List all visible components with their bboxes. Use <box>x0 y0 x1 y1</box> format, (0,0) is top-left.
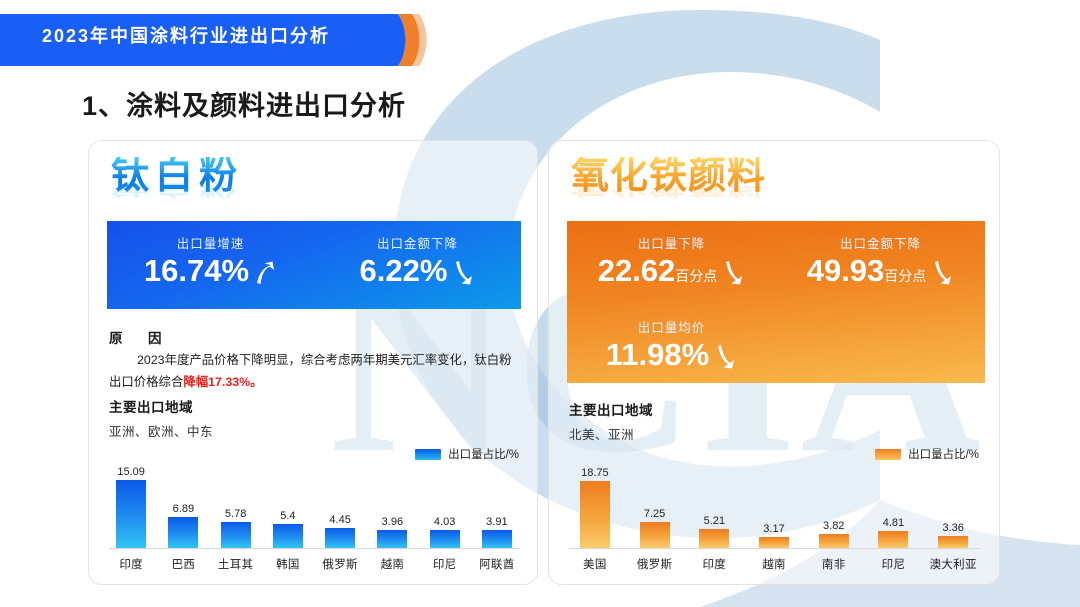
bar-column: 18.75 <box>565 460 625 548</box>
bar-value-label: 4.45 <box>329 514 350 526</box>
reason-body: 2023年度产品价格下降明显，综合考虑两年期美元汇率变化，钛白粉出口价格综合降幅… <box>109 350 519 393</box>
bar-value-label: 3.96 <box>382 516 403 528</box>
metric-label: 出口金额下降 <box>314 233 521 252</box>
x-axis-label: 韩国 <box>262 556 314 572</box>
bar <box>699 529 729 548</box>
region-block-left: 主要出口地域 亚洲、欧洲、中东 <box>109 396 519 440</box>
metric-value: 16.74% <box>144 253 249 288</box>
x-axis-label: 土耳其 <box>210 556 262 572</box>
x-axis-label: 澳大利亚 <box>923 556 983 572</box>
bar-column: 5.21 <box>684 460 744 548</box>
region-title: 主要出口地域 <box>109 396 519 416</box>
bar-value-label: 7.25 <box>644 508 665 520</box>
arrow-down-icon <box>719 259 745 285</box>
metric-value: 6.22% <box>360 253 448 288</box>
region-value: 亚洲、欧洲、中东 <box>109 421 519 440</box>
bar-column: 3.96 <box>366 460 418 548</box>
bar-value-label: 6.89 <box>173 503 194 515</box>
bar-column: 4.45 <box>314 460 366 548</box>
reason-title: 原 因 <box>109 327 519 347</box>
reason-block: 原 因 2023年度产品价格下降明显，综合考虑两年期美元汇率变化，钛白粉出口价格… <box>109 327 519 393</box>
legend-swatch-icon <box>415 449 441 460</box>
metric-label: 出口量增速 <box>107 233 314 252</box>
metric-export-value-decline: 出口金额下降 49.93百分点 <box>776 221 985 288</box>
arrow-down-icon <box>711 343 737 369</box>
x-axis-label: 美国 <box>565 556 625 572</box>
metric-export-volume-growth: 出口量增速 16.74% <box>107 221 314 288</box>
bars-container-left: 15.096.895.785.44.453.964.033.91 <box>105 460 523 548</box>
card-title-titanium-dioxide: 钛白粉 <box>111 157 243 197</box>
bar-value-label: 15.09 <box>117 466 145 478</box>
slide-page: NCIA 2023年中国涂料行业进出口分析 1、涂料及颜料进出口分析 钛白粉 钛… <box>0 0 1080 607</box>
chart-axis-line <box>569 548 979 549</box>
metric-value-group: 22.62百分点 <box>567 254 776 288</box>
chart-titanium-dioxide: 出口量占比/% 15.096.895.785.44.453.964.033.91… <box>105 446 523 574</box>
card-title-iron-oxide: 氧化铁颜料 <box>571 157 766 197</box>
chart-iron-oxide: 出口量占比/% 18.757.255.213.173.824.813.36 美国… <box>565 446 983 574</box>
x-axis-label: 印尼 <box>419 556 471 572</box>
bar-column: 7.25 <box>625 460 685 548</box>
x-axis-label: 印尼 <box>864 556 924 572</box>
bar <box>273 524 303 548</box>
bar-value-label: 3.17 <box>763 523 784 535</box>
x-axis-label: 俄罗斯 <box>625 556 685 572</box>
bar-value-label: 4.03 <box>434 516 455 528</box>
header-banner-title: 2023年中国涂料行业进出口分析 <box>42 14 330 58</box>
x-axis-label: 越南 <box>744 556 804 572</box>
x-axis-label: 俄罗斯 <box>314 556 366 572</box>
bar <box>938 536 968 548</box>
bar <box>819 534 849 548</box>
bar <box>640 522 670 548</box>
bar-column: 3.36 <box>923 460 983 548</box>
bar <box>325 528 355 548</box>
bar-value-label: 3.91 <box>486 516 507 528</box>
arrow-down-icon <box>928 259 954 285</box>
bar <box>221 522 251 548</box>
x-axis-label: 越南 <box>366 556 418 572</box>
x-axis-labels-right: 美国俄罗斯印度越南南非印尼澳大利亚 <box>565 556 983 572</box>
bars-container-right: 18.757.255.213.173.824.813.36 <box>565 460 983 548</box>
bar-column: 6.89 <box>157 460 209 548</box>
metric-label: 出口量均价 <box>567 317 776 336</box>
x-axis-label: 巴西 <box>157 556 209 572</box>
bar <box>377 530 407 548</box>
bar-value-label: 3.82 <box>823 520 844 532</box>
bar-column: 3.17 <box>744 460 804 548</box>
page-title: 1、涂料及颜料进出口分析 <box>82 84 406 123</box>
bar-column: 3.82 <box>804 460 864 548</box>
region-value: 北美、亚洲 <box>569 424 979 443</box>
region-block-right: 主要出口地域 北美、亚洲 <box>569 399 979 443</box>
bar <box>168 517 198 548</box>
bar <box>116 480 146 548</box>
bar <box>580 481 610 549</box>
bar-value-label: 3.36 <box>942 522 963 534</box>
metric-value-group: 6.22% <box>314 254 521 288</box>
metric-unit: 百分点 <box>675 268 717 284</box>
bar-value-label: 4.81 <box>883 517 904 529</box>
bar-value-label: 5.4 <box>280 510 295 522</box>
metric-unit: 百分点 <box>884 268 926 284</box>
bar <box>759 537 789 548</box>
x-axis-label: 阿联酋 <box>471 556 523 572</box>
chart-axis-line <box>109 548 519 549</box>
bar-column: 5.78 <box>210 460 262 548</box>
reason-highlight: 降幅17.33%。 <box>183 375 262 389</box>
metric-export-avg-price: 出口量均价 11.98% <box>567 305 776 372</box>
metric-export-value-decline: 出口金额下降 6.22% <box>314 221 521 288</box>
bar-column: 4.81 <box>864 460 924 548</box>
bar-value-label: 5.78 <box>225 508 246 520</box>
metric-label: 出口量下降 <box>567 233 776 252</box>
header-banner: 2023年中国涂料行业进出口分析 <box>0 14 424 58</box>
region-title: 主要出口地域 <box>569 399 979 419</box>
bar <box>878 531 908 548</box>
bar-column: 3.91 <box>471 460 523 548</box>
x-axis-label: 南非 <box>804 556 864 572</box>
bar-value-label: 5.21 <box>704 515 725 527</box>
card-titanium-dioxide: 钛白粉 钛白粉 出口量增速 16.74% 出口金额下降 6.22% 原 <box>88 140 538 585</box>
metric-value: 22.62 <box>598 253 676 288</box>
bar-column: 5.4 <box>262 460 314 548</box>
metric-value-group: 11.98% <box>567 338 776 372</box>
x-axis-label: 印度 <box>105 556 157 572</box>
x-axis-labels-left: 印度巴西土耳其韩国俄罗斯越南印尼阿联酋 <box>105 556 523 572</box>
bar <box>482 530 512 548</box>
card-iron-oxide-pigment: 氧化铁颜料 氧化铁颜料 出口量下降 22.62百分点 出口金额下降 49.93百… <box>548 140 1000 585</box>
metric-banner-titanium: 出口量增速 16.74% 出口金额下降 6.22% <box>107 221 521 309</box>
bar <box>430 530 460 548</box>
arrow-up-icon <box>251 259 277 285</box>
reason-text: 2023年度产品价格下降明显，综合考虑两年期美元汇率变化，钛白粉出口价格综合 <box>109 353 512 389</box>
metric-value-group: 49.93百分点 <box>776 254 985 288</box>
arrow-down-icon <box>449 259 475 285</box>
x-axis-label: 印度 <box>684 556 744 572</box>
metric-label: 出口金额下降 <box>776 233 985 252</box>
bar-column: 4.03 <box>419 460 471 548</box>
metric-export-volume-decline: 出口量下降 22.62百分点 <box>567 221 776 288</box>
metric-value-group: 16.74% <box>107 254 314 288</box>
bar-column: 15.09 <box>105 460 157 548</box>
metric-banner-iron-oxide: 出口量下降 22.62百分点 出口金额下降 49.93百分点 出口量均价 11.… <box>567 221 985 383</box>
bar-value-label: 18.75 <box>581 467 609 479</box>
legend-swatch-icon <box>875 449 901 460</box>
metric-value: 11.98% <box>606 337 709 372</box>
metric-value: 49.93 <box>807 253 885 288</box>
